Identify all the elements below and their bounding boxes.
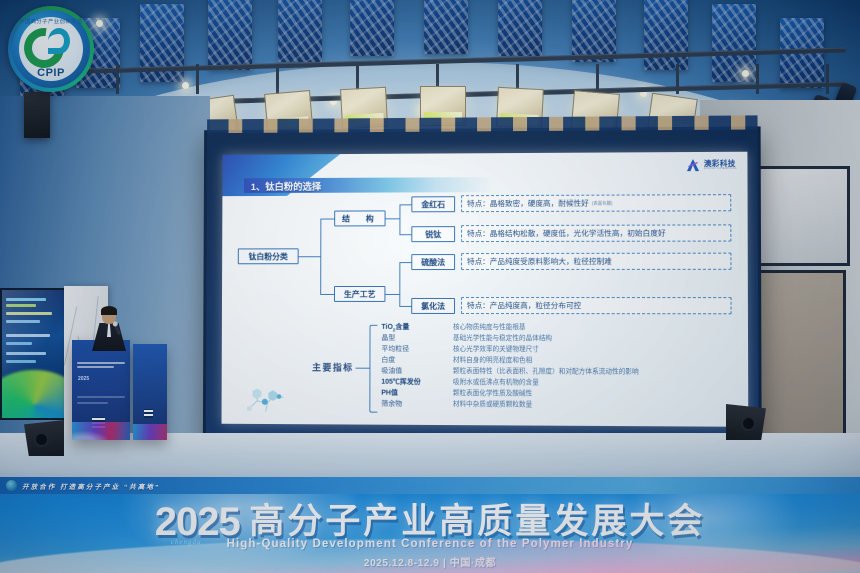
- indicator-row: 晶型 基础光学性能与稳定性的晶体结构: [381, 332, 744, 344]
- indicator-value: 核心光学效率的关键物理尺寸: [453, 343, 539, 353]
- podium-ribbon-graphic: [72, 422, 130, 440]
- classification-diagram: 钛白粉分类 结 构 金红石 特点：晶格致密，硬度高，耐候性好 (表面包膜) 锐钛…: [238, 200, 738, 313]
- diagram-desc-sulfate: 特点：产品纯度受原料影响大，粒径控制难: [461, 253, 731, 270]
- indicator-value: 核心物质纯度与性能根基: [453, 321, 526, 331]
- banner-slogan: 开放合作 打造高分子产业 “共高地”: [22, 481, 160, 491]
- diagram-node-chloride: 氯化法: [411, 298, 455, 314]
- indicator-key: 平均粒径: [381, 344, 453, 354]
- diagram-root-node: 钛白粉分类: [238, 248, 299, 264]
- cpip-acronym: CPIP: [8, 67, 94, 79]
- slide-title-bar: 1、钛白粉的选择: [244, 177, 491, 193]
- acoustic-panel: [572, 0, 616, 62]
- podium-year: 2025: [78, 376, 89, 382]
- key-indicators-block: 主要指标 TiO2含量 核心物质纯度与性能根基 晶型 基础光学性能与稳定性的晶体…: [312, 321, 744, 421]
- diagram-desc-chloride: 特点：产品纯度高，粒径分布可控: [461, 297, 732, 314]
- indicator-row: 吸油值 颗粒表面特性（比表面积、孔隙度）和对配方体系流动性的影响: [381, 365, 744, 377]
- desc-text: 特点：产品纯度高，粒径分布可控: [467, 300, 581, 311]
- event-banner: 开放合作 打造高分子产业 “共高地” 2025 chengdu 高分子产业高质量…: [0, 477, 860, 573]
- screen-top-trim: [207, 115, 757, 133]
- speaking-podium: 2025: [72, 340, 130, 440]
- a-mark-icon: [686, 158, 701, 172]
- stage-monitor-speaker: [726, 404, 766, 440]
- indicator-value: 颗粒表面特性（比表面积、孔隙度）和对配方体系流动性的影响: [453, 365, 639, 376]
- indicator-value: 颗粒表面化学性质及酸碱性: [453, 387, 532, 397]
- slide-title: 1、钛白粉的选择: [244, 178, 321, 192]
- banner-title-cn: 高分子产业高质量发展大会: [249, 493, 705, 544]
- acoustic-panel: [278, 0, 322, 62]
- indicator-row: 平均粒径 核心光学效率的关键物理尺寸: [381, 343, 744, 355]
- pa-speaker: [24, 92, 50, 138]
- molecule-graphic-icon: [239, 382, 292, 416]
- diagram-desc-rutile: 特点：晶格致密，硬度高，耐候性好 (表面包膜): [461, 194, 731, 212]
- diagram-branch-process: 生产工艺: [334, 286, 385, 302]
- diagram-node-anatase: 锐钛: [411, 226, 455, 242]
- indicator-row: 105℃挥发份 吸附水或低沸点有机物的含量: [381, 376, 744, 389]
- indicator-key: 筛余物: [381, 399, 453, 409]
- diagram-desc-anatase: 特点：晶格结构松散，硬度低，光化学活性高，初始白度好: [461, 224, 731, 242]
- desc-text: 特点：产品纯度受原料影响大，粒径控制难: [467, 256, 612, 267]
- downlight-icon: [96, 20, 103, 27]
- indicator-key: PH值: [381, 388, 453, 398]
- side-led-screen: [0, 288, 66, 420]
- brand-logo: 澳彩科技 AOCAI CHEMICAL: [686, 158, 738, 172]
- diagram-node-sulfate: 硫酸法: [411, 254, 455, 270]
- acoustic-panel: [498, 0, 542, 56]
- indicator-key: 白度: [381, 355, 453, 365]
- banner-top-strip: 开放合作 打造高分子产业 “共高地”: [0, 477, 860, 494]
- indicator-row: 筛余物 材料中杂质或硬质颗粒数量: [381, 398, 744, 411]
- banner-year: 2025 chengdu: [155, 500, 240, 545]
- cpip-arc-text: 中国高分子产业创新联盟: [8, 18, 94, 25]
- indicator-key: 晶型: [381, 333, 453, 343]
- indicator-value: 材料中杂质或硬质颗粒数量: [453, 398, 532, 408]
- desc-sub: (表面包膜): [592, 200, 613, 206]
- indicator-value: 材料自身的明亮程度和色相: [453, 354, 532, 364]
- cpip-logo: 中国高分子产业创新联盟 CPIP: [8, 6, 94, 92]
- brand-name-en: AOCAI CHEMICAL: [704, 167, 737, 170]
- diagram-branch-structure: 结 构: [334, 210, 385, 226]
- alliance-seal-icon: [6, 480, 17, 491]
- presentation-screen: 澳彩科技 AOCAI CHEMICAL 1、钛白粉的选择 钛白粉分类 结 构: [203, 126, 762, 452]
- diagram-node-rutile: 金红石: [411, 196, 455, 212]
- indicator-row: TiO2含量 核心物质纯度与性能根基: [381, 321, 743, 333]
- acoustic-panel: [424, 0, 468, 54]
- indicator-row: 白度 材料自身的明亮程度和色相: [381, 354, 744, 366]
- stage-monitor-speaker: [24, 420, 64, 456]
- acoustic-panel: [350, 0, 394, 56]
- qr-code-icon: [144, 409, 153, 418]
- indicator-key: 105℃挥发份: [381, 377, 453, 387]
- secondary-podium: [133, 344, 167, 440]
- speaker-person: [92, 308, 126, 350]
- indicator-key: TiO2含量: [381, 322, 453, 332]
- desc-text: 特点：晶格致密，硬度高，耐候性好: [467, 198, 589, 209]
- conference-stage-photo: 澳彩科技 AOCAI CHEMICAL 1、钛白粉的选择 钛白粉分类 结 构: [0, 0, 860, 573]
- slide-content: 澳彩科技 AOCAI CHEMICAL 1、钛白粉的选择 钛白粉分类 结 构: [222, 152, 749, 427]
- indicator-value: 吸附水或低沸点有机物的含量: [453, 376, 539, 386]
- podium-ribbon-graphic: [133, 424, 167, 440]
- indicator-row: PH值 颗粒表面化学性质及酸碱性: [381, 387, 744, 400]
- desc-text: 特点：晶格结构松散，硬度低，光化学活性高，初始白度好: [467, 228, 666, 239]
- indicator-key: 吸油值: [381, 366, 453, 376]
- indicators-list: TiO2含量 核心物质纯度与性能根基 晶型 基础光学性能与稳定性的晶体结构 平均…: [381, 321, 744, 411]
- indicators-title: 主要指标: [312, 361, 354, 374]
- indicator-value: 基础光学性能与稳定性的晶体结构: [453, 332, 552, 342]
